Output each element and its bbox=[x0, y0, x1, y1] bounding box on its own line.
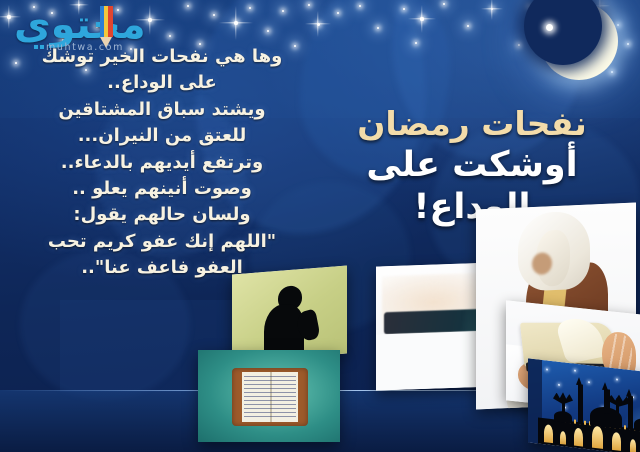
silhouette-praying-photo[interactable] bbox=[232, 265, 347, 362]
star-icon bbox=[588, 381, 590, 383]
star-icon bbox=[308, 4, 310, 6]
star-icon bbox=[249, 7, 251, 9]
poem-line: وها هي نفحات الخير توشك bbox=[6, 44, 318, 70]
star-icon bbox=[7, 15, 10, 18]
poem-line: وترتفع أيديهم بالدعاء.. bbox=[6, 150, 318, 176]
star-icon bbox=[148, 18, 151, 21]
star-icon bbox=[377, 27, 379, 29]
star-icon bbox=[234, 21, 238, 25]
open-quran-on-stand-photo[interactable] bbox=[198, 350, 340, 442]
ramadan-poster: محتوى muhtwa.com وها هي نفحات الخير توشك… bbox=[0, 0, 640, 452]
star-icon bbox=[317, 23, 320, 26]
poem-line: على الوداع.. bbox=[6, 70, 318, 96]
star-icon bbox=[546, 24, 553, 31]
star-icon bbox=[616, 378, 618, 380]
crescent-moon-icon bbox=[540, 2, 618, 80]
star-icon bbox=[574, 370, 576, 372]
mosque-night-photo[interactable] bbox=[528, 358, 640, 452]
star-icon bbox=[213, 14, 215, 16]
headline-line-1: نفحات رمضان bbox=[312, 104, 632, 144]
book-text-lines bbox=[244, 376, 296, 418]
praying-silhouette-icon bbox=[260, 284, 320, 361]
poem-line: للعتق من النيران... bbox=[6, 123, 318, 149]
poem-line: وصوت أنينهم يعلو .. bbox=[6, 176, 318, 202]
star-icon bbox=[420, 17, 423, 20]
star-icon bbox=[518, 44, 520, 46]
photo-collage bbox=[228, 216, 640, 452]
star-icon bbox=[169, 35, 171, 37]
star-icon bbox=[443, 3, 445, 5]
star-icon bbox=[546, 368, 548, 370]
poem-line: ويشتد سباق المشتاقين bbox=[6, 97, 318, 123]
mosque-silhouette-icon bbox=[538, 381, 640, 452]
